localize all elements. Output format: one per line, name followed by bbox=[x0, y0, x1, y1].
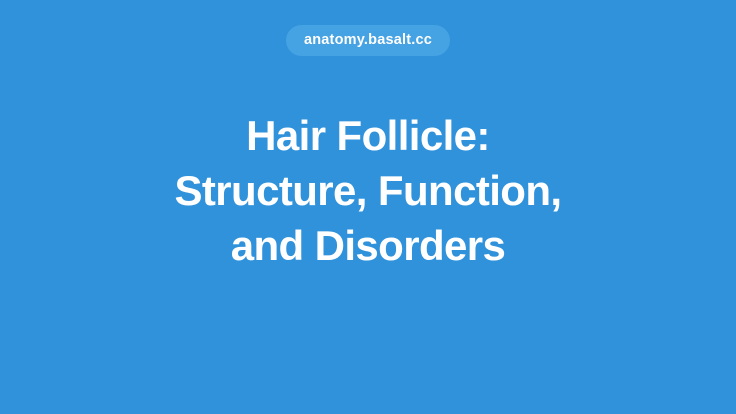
badge-row: anatomy.basalt.cc bbox=[0, 25, 736, 56]
site-domain-badge: anatomy.basalt.cc bbox=[286, 25, 450, 56]
page-title-line-1: Hair Follicle: bbox=[48, 108, 688, 163]
page-title: Hair Follicle: Structure, Function, and … bbox=[48, 108, 688, 273]
title-card: anatomy.basalt.cc Hair Follicle: Structu… bbox=[0, 0, 736, 414]
page-title-line-2: Structure, Function, bbox=[48, 163, 688, 218]
page-title-line-3: and Disorders bbox=[48, 218, 688, 273]
